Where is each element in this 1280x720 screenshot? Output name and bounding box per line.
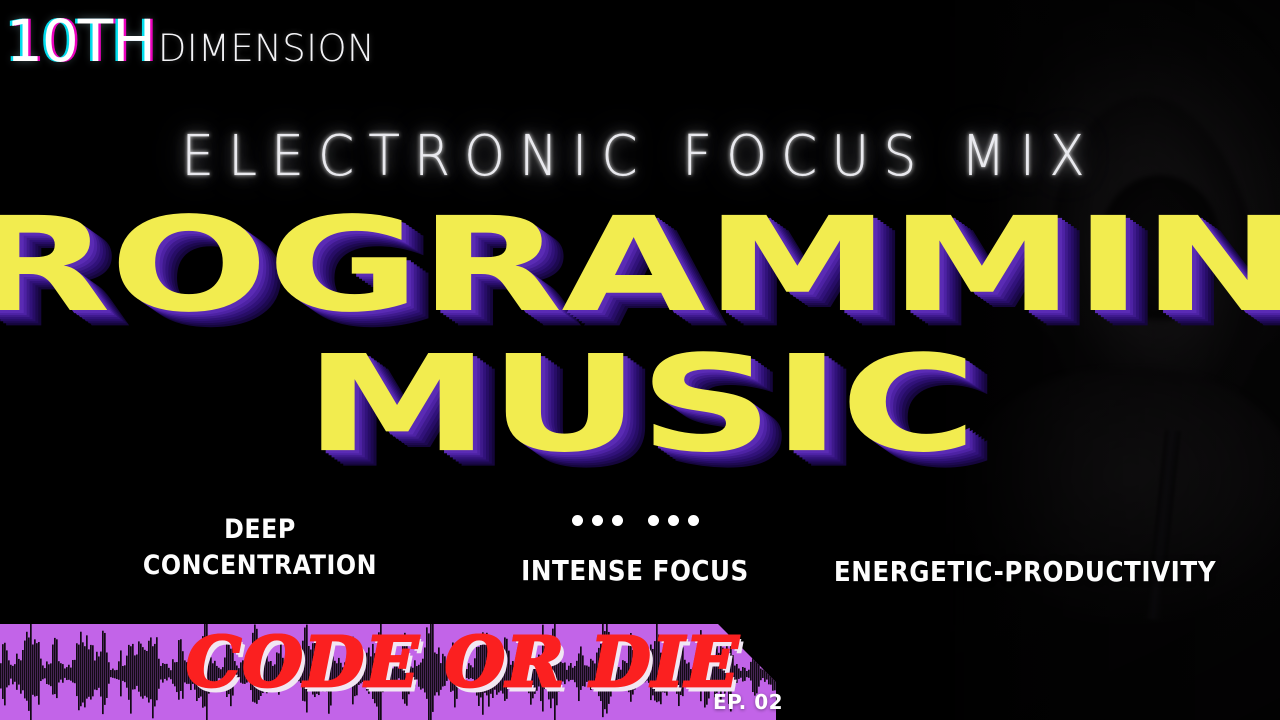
feature-2-line-1: INTENSE FOCUS (490, 554, 780, 587)
channel-logo-mark: 10TH (6, 12, 155, 70)
hero-title-line-2: MUSIC (0, 344, 1280, 466)
hero-title: PROGRAMMING MUSIC (0, 206, 1280, 462)
tagline-code-or-die: CODE OR DIE (186, 622, 739, 702)
feature-row: DEEP CONCENTRATION INTENSE FOCUS ENERGET… (0, 500, 1280, 600)
feature-1-line-1: DEEP (110, 512, 409, 548)
dot-icon (592, 515, 603, 526)
dot-icon (688, 515, 699, 526)
dot-icon (572, 515, 583, 526)
dot-icon (668, 515, 679, 526)
feature-1-line-2: CONCENTRATION (110, 548, 409, 584)
episode-badge: EP. 02 (713, 690, 783, 714)
feature-energetic-productivity: ENERGETIC-PRODUCTIVITY (818, 555, 1232, 588)
dots-decoration-icon (470, 515, 800, 526)
channel-logo: 10TH DIMENSION (6, 12, 375, 70)
dot-icon (612, 515, 623, 526)
feature-deep-concentration: DEEP CONCENTRATION (110, 512, 409, 584)
feature-3-line-1: ENERGETIC-PRODUCTIVITY (818, 555, 1232, 588)
eyebrow-text: ELECTRONIC FOCUS MIX (0, 124, 1280, 189)
dot-group-gap (632, 520, 639, 521)
feature-intense-focus: INTENSE FOCUS (490, 554, 780, 587)
channel-logo-word: DIMENSION (158, 30, 375, 67)
video-thumbnail: 10TH DIMENSION ELECTRONIC FOCUS MIX PROG… (0, 0, 1280, 720)
hero-title-line-1: PROGRAMMING (0, 206, 1280, 326)
dot-icon (648, 515, 659, 526)
